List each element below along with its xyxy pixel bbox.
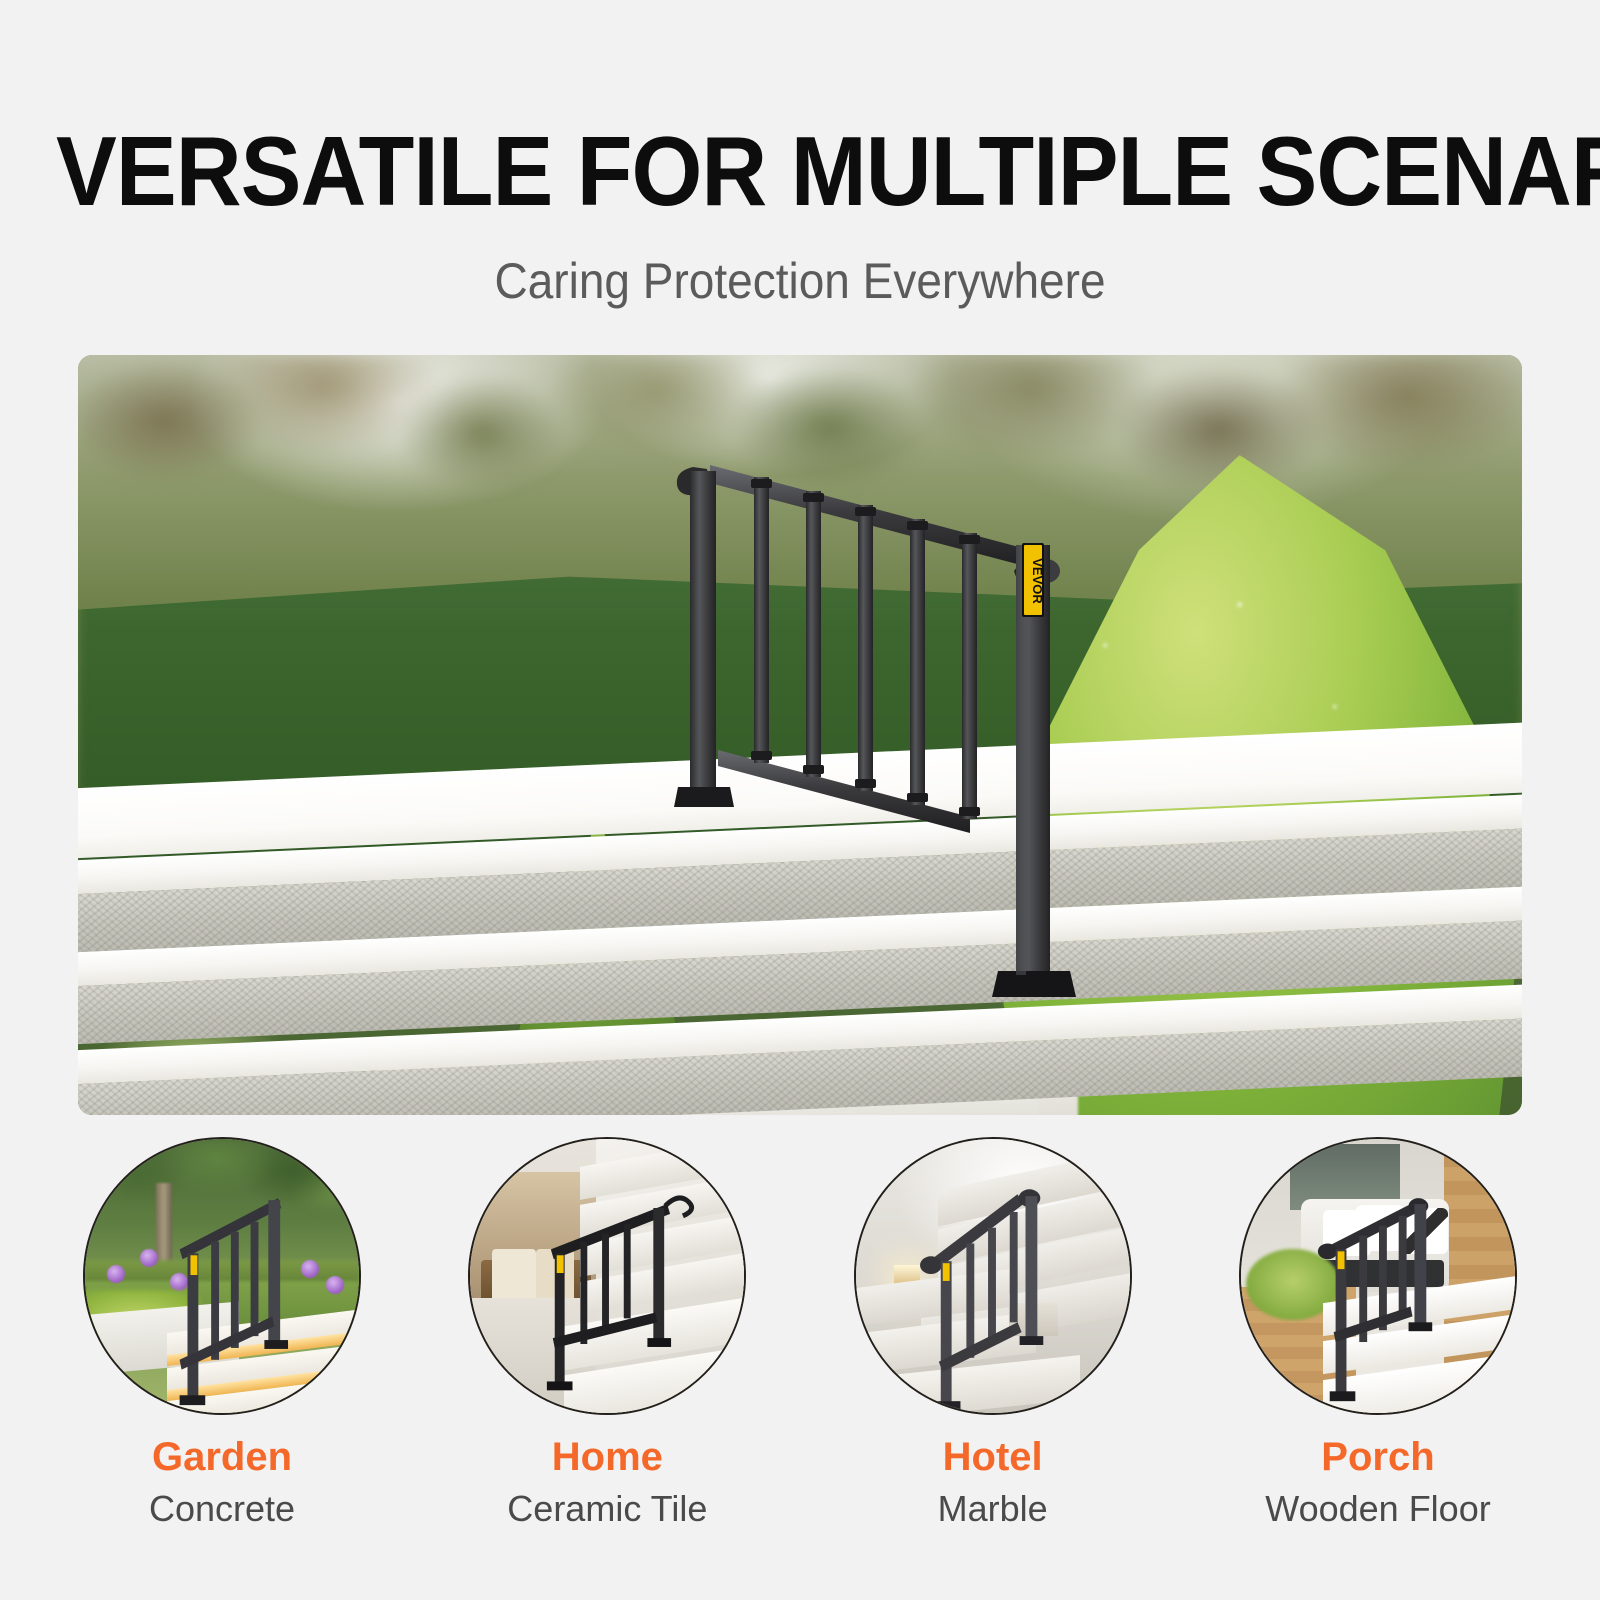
scenario-title: Porch xyxy=(1321,1437,1434,1477)
scenario-item-hotel[interactable]: Hotel Marble xyxy=(849,1137,1137,1527)
marketing-page: VERSATILE FOR MULTIPLE SCENARIOS Caring … xyxy=(0,0,1600,1600)
scenario-thumbnail-hotel xyxy=(854,1137,1132,1415)
scenario-surface: Marble xyxy=(938,1491,1048,1527)
scenario-surface: Wooden Floor xyxy=(1265,1491,1490,1527)
scenario-item-porch[interactable]: Porch Wooden Floor xyxy=(1234,1137,1522,1527)
scenario-thumbnail-porch xyxy=(1239,1137,1517,1415)
page-subtitle: Caring Protection Everywhere xyxy=(64,252,1536,310)
scenario-surface: Ceramic Tile xyxy=(507,1491,707,1527)
scenario-title: Home xyxy=(552,1437,663,1477)
scenario-list: Garden Concrete xyxy=(78,1137,1522,1527)
scenario-title: Hotel xyxy=(943,1437,1043,1477)
scenario-item-garden[interactable]: Garden Concrete xyxy=(78,1137,366,1527)
scenario-surface: Concrete xyxy=(149,1491,295,1527)
scenario-item-home[interactable]: Home Ceramic Tile xyxy=(463,1137,751,1527)
scenario-title: Garden xyxy=(152,1437,292,1477)
hero-image: VEVOR xyxy=(78,355,1522,1115)
page-title: VERSATILE FOR MULTIPLE SCENARIOS xyxy=(56,122,1544,220)
scenario-thumbnail-garden xyxy=(83,1137,361,1415)
scenario-thumbnail-home xyxy=(468,1137,746,1415)
hero-granite-stairs xyxy=(78,785,1522,1115)
